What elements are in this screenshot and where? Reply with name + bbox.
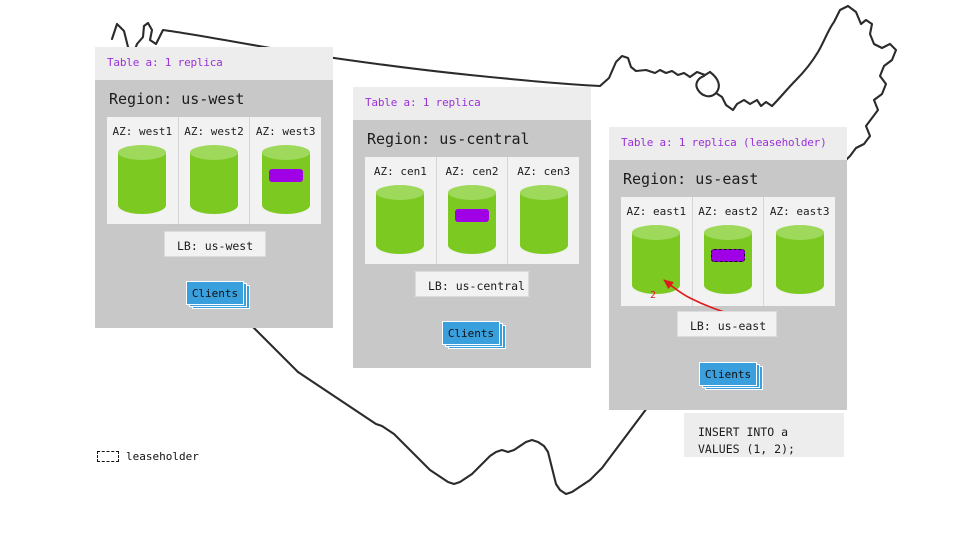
- cylinder-body: [448, 192, 496, 254]
- replica-range-marker: [455, 209, 489, 222]
- az-cell-west1[interactable]: AZ: west1: [107, 117, 179, 224]
- clients-stack-us-west[interactable]: Clients: [186, 281, 250, 309]
- arrow-step-label: 2: [650, 290, 656, 301]
- cylinder-body: [118, 152, 166, 214]
- az-cell-east2[interactable]: AZ: east2: [693, 197, 765, 306]
- leaseholder-swatch-icon: [97, 451, 119, 462]
- node-cylinder-east1[interactable]: [632, 225, 680, 294]
- cylinder-top: [118, 145, 166, 160]
- lb-label: LB: us-central: [428, 279, 525, 293]
- legend-label: leaseholder: [126, 450, 199, 463]
- lb-label: LB: us-west: [177, 239, 253, 253]
- cylinder-top: [190, 145, 238, 160]
- clients-label: Clients: [192, 287, 238, 300]
- cylinder-body: [776, 232, 824, 294]
- sql-statement-box: INSERT INTO a VALUES (1, 2);: [684, 413, 844, 457]
- az-label: AZ: cen3: [517, 165, 570, 178]
- az-label: AZ: cen1: [374, 165, 427, 178]
- clients-label: Clients: [705, 368, 751, 381]
- az-cell-cen3[interactable]: AZ: cen3: [508, 157, 579, 264]
- panel-title-bar-us-west: Table a: 1 replica: [95, 47, 333, 80]
- az-label: AZ: east3: [770, 205, 830, 218]
- az-label: AZ: east1: [627, 205, 687, 218]
- node-cylinder-cen2[interactable]: [448, 185, 496, 252]
- cylinder-body: [704, 232, 752, 294]
- region-label: Region: us-central: [353, 120, 591, 157]
- az-row-us-west: AZ: west1 AZ: west2 AZ: west3: [107, 117, 321, 224]
- sql-line-1: INSERT INTO a: [698, 424, 830, 441]
- cylinder-top: [262, 145, 310, 160]
- replica-range-marker: [269, 169, 303, 182]
- az-row-us-central: AZ: cen1 AZ: cen2 AZ: cen3: [365, 157, 579, 264]
- node-cylinder-west1[interactable]: [118, 145, 166, 212]
- node-cylinder-east3[interactable]: [776, 225, 824, 294]
- legend-leaseholder: leaseholder: [97, 450, 199, 463]
- clients-button[interactable]: Clients: [186, 281, 244, 305]
- diagram-canvas: Table a: 1 replica Region: us-west AZ: w…: [0, 0, 960, 540]
- clients-stack-us-central[interactable]: Clients: [442, 321, 506, 349]
- cylinder-body: [190, 152, 238, 214]
- panel-title-bar-us-east: Table a: 1 replica (leaseholder): [609, 127, 847, 160]
- cylinder-top: [448, 185, 496, 200]
- leaseholder-range-marker: [711, 249, 745, 262]
- az-label: AZ: west1: [113, 125, 173, 138]
- az-label: AZ: cen2: [446, 165, 499, 178]
- table-replica-title: Table a: 1 replica (leaseholder): [621, 136, 835, 149]
- clients-stack-us-east[interactable]: Clients: [699, 362, 763, 390]
- region-label: Region: us-west: [95, 80, 333, 117]
- cylinder-body: [376, 192, 424, 254]
- cylinder-top: [776, 225, 824, 240]
- load-balancer-us-central[interactable]: LB: us-central: [415, 271, 529, 297]
- cylinder-body: [262, 152, 310, 214]
- sql-line-2: VALUES (1, 2);: [698, 441, 830, 458]
- load-balancer-us-east[interactable]: LB: us-east: [677, 311, 777, 337]
- node-cylinder-cen1[interactable]: [376, 185, 424, 252]
- az-label: AZ: west3: [256, 125, 316, 138]
- az-cell-east3[interactable]: AZ: east3: [764, 197, 835, 306]
- az-cell-west3[interactable]: AZ: west3: [250, 117, 321, 224]
- lb-label: LB: us-east: [690, 319, 766, 333]
- table-replica-title: Table a: 1 replica: [365, 96, 579, 109]
- table-replica-title: Table a: 1 replica: [107, 56, 321, 69]
- az-cell-cen2[interactable]: AZ: cen2: [437, 157, 509, 264]
- region-label: Region: us-east: [609, 160, 847, 197]
- az-label: AZ: west2: [184, 125, 244, 138]
- clients-label: Clients: [448, 327, 494, 340]
- az-label: AZ: east2: [698, 205, 758, 218]
- az-cell-west2[interactable]: AZ: west2: [179, 117, 251, 224]
- node-cylinder-east2[interactable]: [704, 225, 752, 294]
- panel-title-bar-us-central: Table a: 1 replica: [353, 87, 591, 120]
- cylinder-body: [632, 232, 680, 294]
- node-cylinder-west2[interactable]: [190, 145, 238, 212]
- cylinder-top: [632, 225, 680, 240]
- az-cell-cen1[interactable]: AZ: cen1: [365, 157, 437, 264]
- load-balancer-us-west[interactable]: LB: us-west: [164, 231, 266, 257]
- clients-button[interactable]: Clients: [442, 321, 500, 345]
- cylinder-top: [376, 185, 424, 200]
- cylinder-top: [520, 185, 568, 200]
- node-cylinder-west3[interactable]: [262, 145, 310, 212]
- az-cell-east1[interactable]: AZ: east1: [621, 197, 693, 306]
- node-cylinder-cen3[interactable]: [520, 185, 568, 252]
- cylinder-body: [520, 192, 568, 254]
- cylinder-top: [704, 225, 752, 240]
- clients-button[interactable]: Clients: [699, 362, 757, 386]
